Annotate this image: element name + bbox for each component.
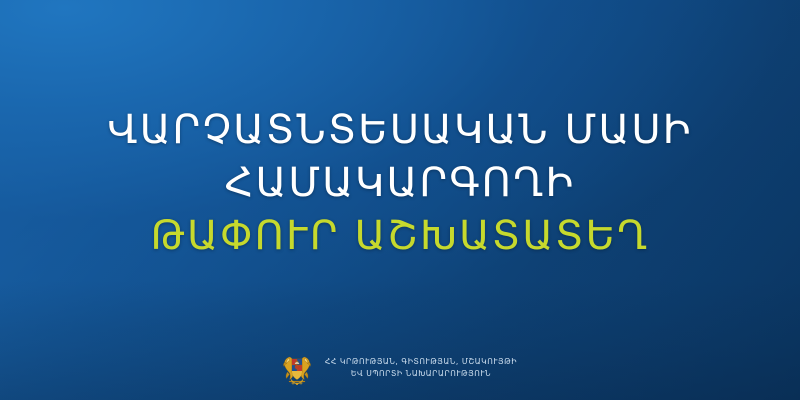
headline-line-1: ՎԱՐՉԱՏՆՏԵՍԱԿԱՆ ՄԱՍԻ [0,104,800,157]
headline-line-3-vacancy: ԹԱՓՈՒՐ ԱՇԽԱՏԱՏԵՂ [0,210,800,263]
ministry-name-line-1: ՀՀ ԿՐԹՈՒԹՅԱՆ, ԳԻՏՈՒԹՅԱՆ, ՄՇԱԿՈՒՅԹԻ [325,357,517,367]
armenia-coat-of-arms-icon [283,350,311,386]
headline-block: ՎԱՐՉԱՏՆՏԵՍԱԿԱՆ ՄԱՍԻ ՀԱՄԱԿԱՐԳՈՂԻ ԹԱՓՈՒՐ Ա… [0,104,800,263]
ministry-name: ՀՀ ԿՐԹՈՒԹՅԱՆ, ԳԻՏՈՒԹՅԱՆ, ՄՇԱԿՈՒՅԹԻ ԵՎ ՍՊ… [325,357,517,379]
headline-line-2: ՀԱՄԱԿԱՐԳՈՂԻ [0,157,800,210]
vacancy-announcement-banner: ՎԱՐՉԱՏՆՏԵՍԱԿԱՆ ՄԱՍԻ ՀԱՄԱԿԱՐԳՈՂԻ ԹԱՓՈՒՐ Ա… [0,0,800,400]
ministry-name-line-2: ԵՎ ՍՊՈՐՏԻ ՆԱԽԱՐԱՐՈՒԹՅՈՒՆ [351,369,491,379]
ministry-lockup: ՀՀ ԿՐԹՈՒԹՅԱՆ, ԳԻՏՈՒԹՅԱՆ, ՄՇԱԿՈՒՅԹԻ ԵՎ ՍՊ… [0,344,800,392]
